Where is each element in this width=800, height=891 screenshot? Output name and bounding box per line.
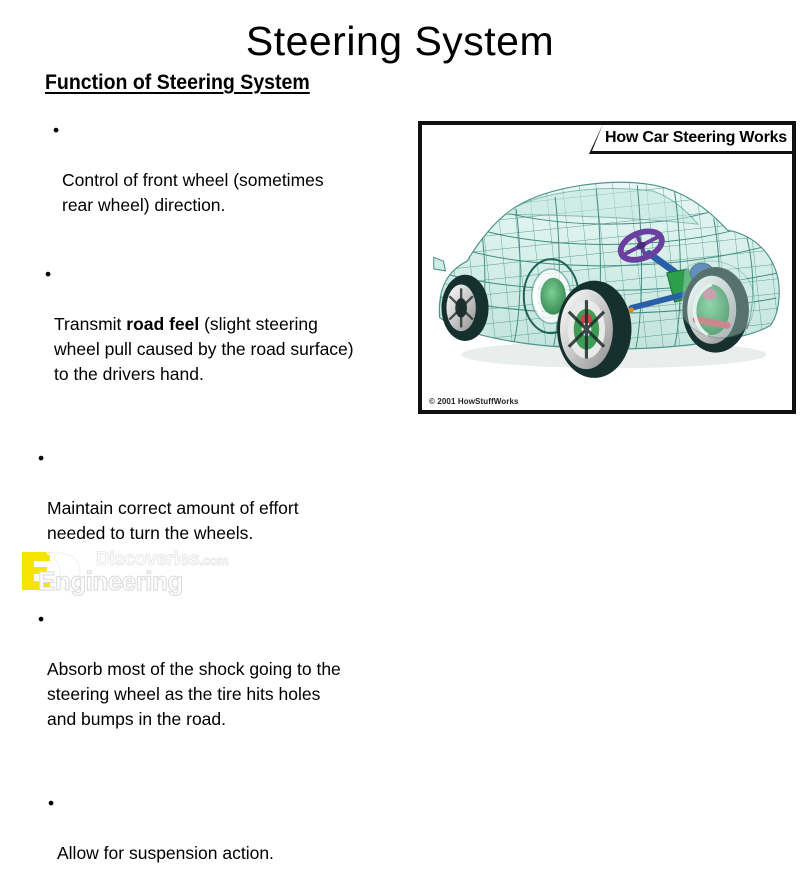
bullet-marker: • [45, 262, 51, 287]
section-heading: Function of Steering System [45, 70, 310, 95]
side-mirror [434, 257, 446, 271]
watermark-brand-bottom: Engineering [38, 566, 183, 597]
list-item-text-before: Transmit [54, 314, 126, 334]
list-item: • Transmit road feel (slight steering wh… [45, 262, 420, 412]
panel-banner-label: How Car Steering Works [605, 129, 787, 147]
list-item-text: Control of front wheel (sometimes rear w… [53, 168, 420, 218]
bullet-marker: • [48, 791, 54, 816]
list-item: • Absorb most of the shock going to the … [38, 607, 420, 757]
bullet-marker: • [53, 118, 59, 143]
bullet-marker: • [38, 446, 44, 471]
list-item-text: Transmit road feel (slight steering whee… [45, 312, 420, 387]
car-steering-illustration [422, 125, 792, 410]
list-item: • Allow for suspension action. [48, 791, 420, 891]
copyright-notice: © 2001 HowStuffWorks [429, 397, 519, 406]
bullet-list: • Control of front wheel (sometimes rear… [0, 118, 420, 891]
panel-banner: How Car Steering Works [589, 124, 793, 154]
wheel-front-left [557, 281, 631, 378]
list-item-text: Maintain correct amount of effort needed… [38, 496, 420, 546]
watermark-brand-suffix: .com [199, 553, 228, 568]
watermark-logo: Discoveries.com Engineering [8, 540, 308, 596]
illustration-panel: How Car Steering Works © 2001 HowStuffWo… [418, 121, 796, 414]
wheel-rear-left [442, 275, 489, 341]
list-item: • Control of front wheel (sometimes rear… [53, 118, 420, 243]
list-item-text: Absorb most of the shock going to the st… [38, 657, 420, 732]
list-item-text-emphasis: road feel [126, 314, 199, 334]
list-item-text: Allow for suspension action. [48, 841, 420, 866]
page-title: Steering System [0, 18, 800, 64]
bullet-marker: • [38, 607, 44, 632]
